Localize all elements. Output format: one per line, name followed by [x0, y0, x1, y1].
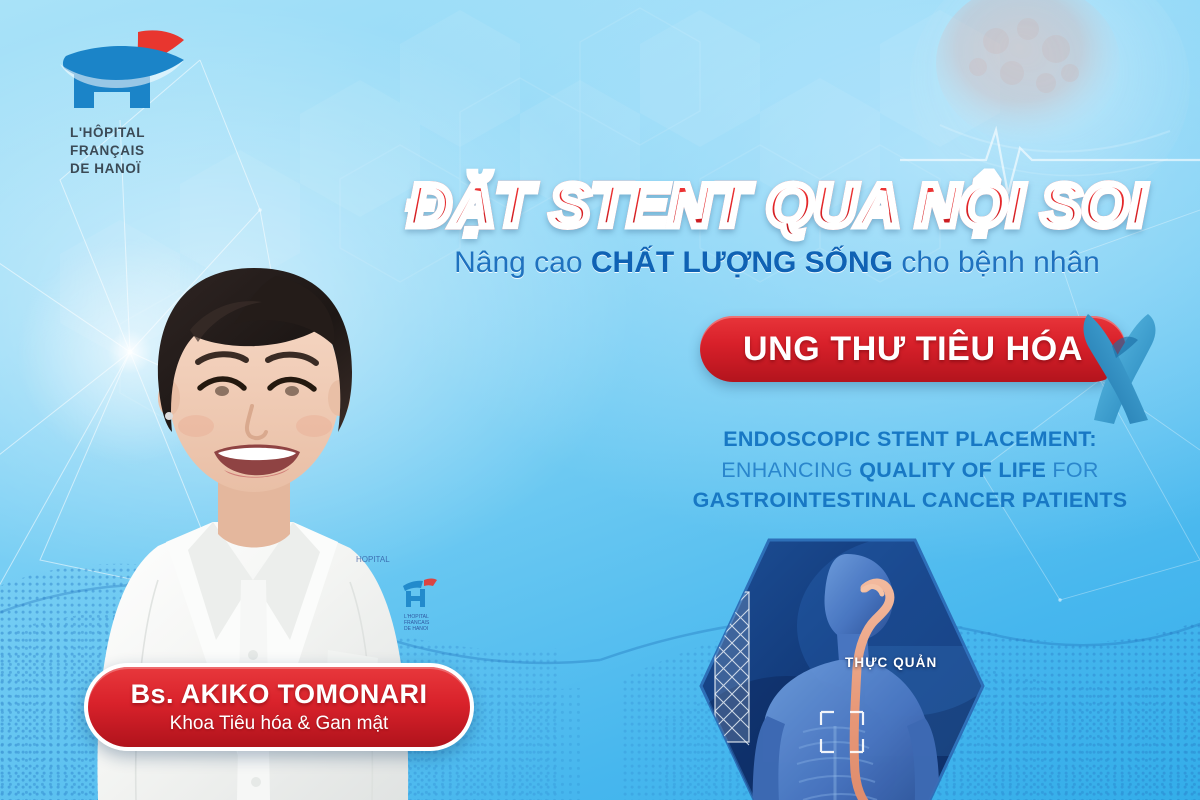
subtitle-pre: Nâng cao [454, 246, 591, 279]
english-line-1: ENDOSCOPIC STENT PLACEMENT: [650, 424, 1170, 455]
doctor-department: Khoa Tiêu hóa & Gan mật [170, 713, 389, 735]
page-title: ĐẶT STENT QUA NỘI SOI [382, 176, 1172, 236]
doctor-name-badge: Bs. AKIKO TOMONARI Khoa Tiêu hóa & Gan m… [84, 663, 474, 751]
doctor-name: Bs. AKIKO TOMONARI [131, 679, 428, 710]
english-subtitle-block: ENDOSCOPIC STENT PLACEMENT: ENHANCING QU… [650, 424, 1170, 516]
subtitle-post: cho bệnh nhân [893, 246, 1100, 279]
poster-canvas: L'HÔPITAL FRANÇAIS DE HANOÏ [0, 0, 1200, 800]
english-line-2-strong: QUALITY OF LIFE [859, 458, 1046, 482]
awareness-ribbon-icon [1074, 300, 1170, 426]
english-line-2-post: FOR [1046, 458, 1099, 482]
english-line-2-pre: ENHANCING [721, 458, 859, 482]
anatomy-esophagus-hexagon [697, 536, 987, 800]
cancer-type-banner: UNG THƯ TIÊU HÓA [700, 316, 1170, 390]
headline-block: ĐẶT STENT QUA NỘI SOI Nâng cao CHẤT LƯỢN… [382, 176, 1172, 279]
english-line-3: GASTROINTESTINAL CANCER PATIENTS [650, 485, 1170, 516]
subtitle-strong: CHẤT LƯỢNG SỐNG [591, 246, 893, 279]
headline-subtitle: Nâng cao CHẤT LƯỢNG SỐNG cho bệnh nhân [382, 246, 1172, 279]
english-line-1-text: ENDOSCOPIC STENT PLACEMENT: [723, 427, 1097, 451]
svg-text:DE HANOI: DE HANOI [404, 626, 428, 632]
english-line-2: ENHANCING QUALITY OF LIFE FOR [650, 455, 1170, 486]
cancer-type-label: UNG THƯ TIÊU HÓA [743, 330, 1083, 369]
mesh-stent-icon [715, 592, 749, 745]
english-line-3-text: GASTROINTESTINAL CANCER PATIENTS [693, 488, 1128, 512]
esophagus-label: THỰC QUẢN [845, 655, 937, 670]
status-badge: UNG THƯ TIÊU HÓA [700, 316, 1126, 382]
hospital-h-logo-icon [52, 26, 188, 118]
svg-text:HOPITAL: HOPITAL [356, 555, 390, 564]
